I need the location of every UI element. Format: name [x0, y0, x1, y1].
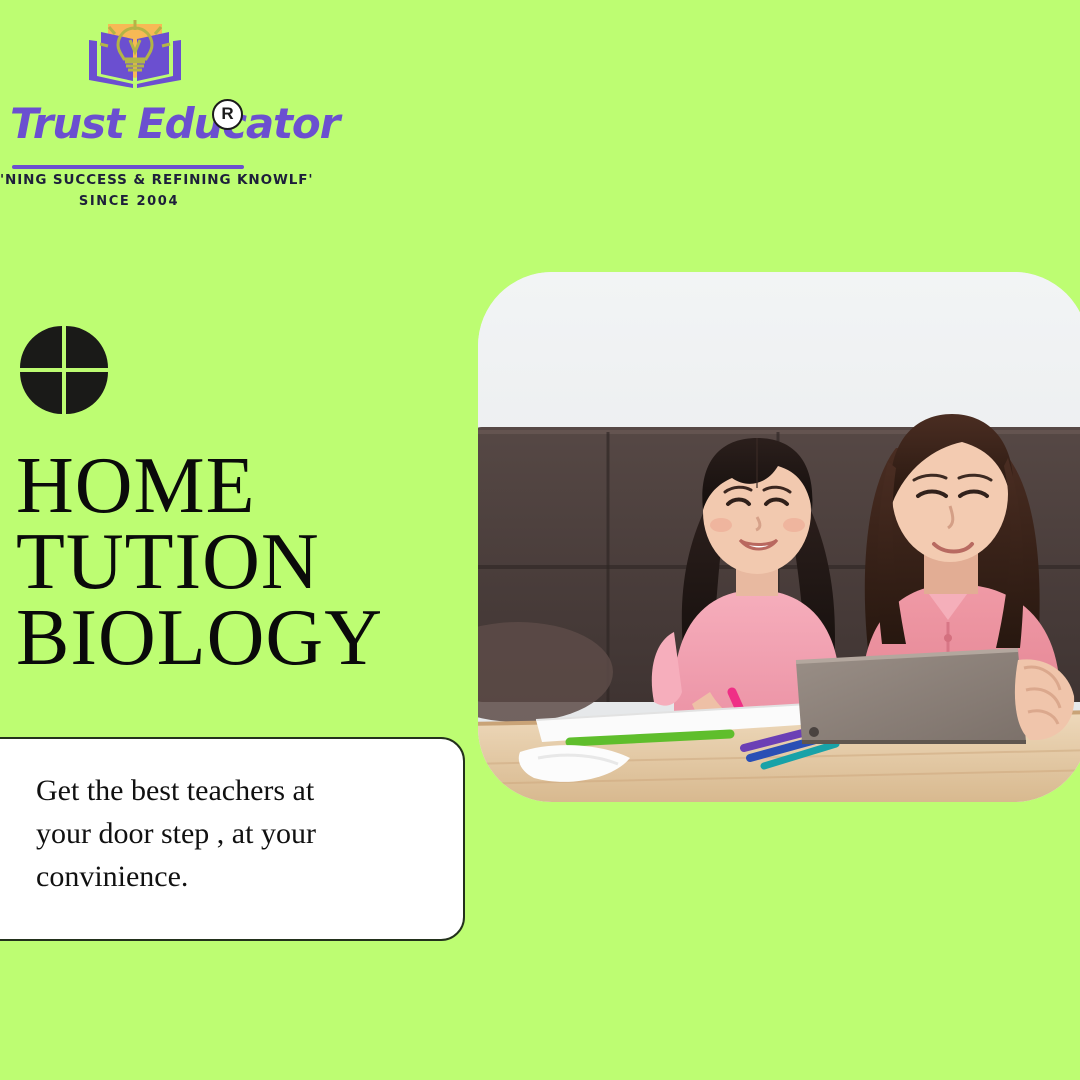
tutor-and-student-with-tablet-photo — [478, 272, 1080, 802]
page-title: HOME TUTION BIOLOGY — [16, 448, 446, 676]
open-book-lightbulb-icon — [75, 18, 195, 96]
caption-line-1: Get the best teachers at — [36, 769, 436, 812]
four-petal-quarter-circle-icon — [18, 324, 110, 416]
brand-tagline: 'NING SUCCESS & REFINING KNOWLF' — [0, 172, 258, 188]
headline-line-2: TUTION — [16, 524, 446, 600]
brand-name: Trust Educator — [10, 100, 339, 148]
poster-canvas: Trust Educator R 'NING SUCCESS & REFININ… — [0, 0, 1080, 1080]
wordmark-underline — [12, 165, 244, 169]
caption-line-2: your door step , at your — [36, 812, 436, 855]
brand-since: SINCE 2004 — [0, 194, 258, 209]
brand-logo: Trust Educator R 'NING SUCCESS & REFININ… — [0, 18, 270, 203]
caption-text: Get the best teachers at your door step … — [36, 769, 436, 898]
caption-line-3: convinience. — [36, 855, 436, 898]
headline-line-3: BIOLOGY — [16, 600, 446, 676]
caption-card: Get the best teachers at your door step … — [0, 737, 465, 941]
registered-trademark-badge: R — [212, 99, 243, 130]
headline-line-1: HOME — [16, 448, 446, 524]
